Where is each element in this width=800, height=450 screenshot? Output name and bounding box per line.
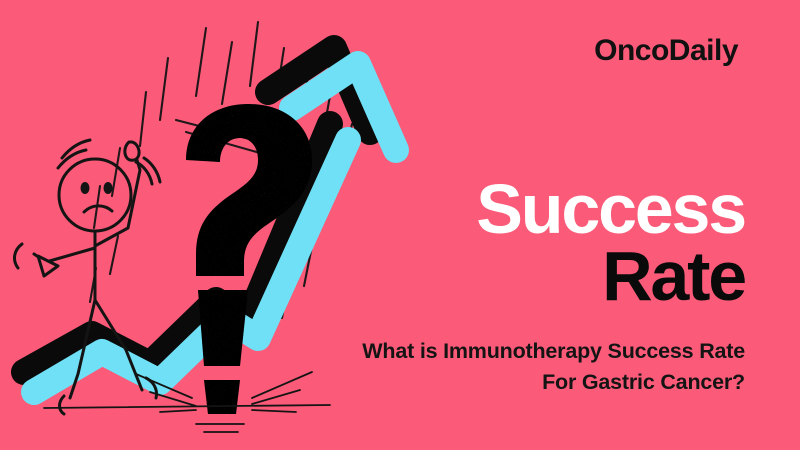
eye-left <box>81 182 90 194</box>
headline-line-1: Success <box>325 176 745 243</box>
brand-logo: OncoDaily <box>594 36 738 66</box>
frown-mouth <box>84 206 112 212</box>
subtitle: What is Immunotherapy Success Rate For G… <box>345 336 745 397</box>
banner-root: OncoDaily Success Rate What is Immunothe… <box>0 0 800 450</box>
headline-line-2: Rate <box>325 243 745 310</box>
eye-right <box>104 182 113 194</box>
ground-line <box>44 372 330 432</box>
page-title: Success Rate <box>325 176 745 309</box>
subtitle-emphasis: Gastric Cancer? <box>582 370 745 394</box>
